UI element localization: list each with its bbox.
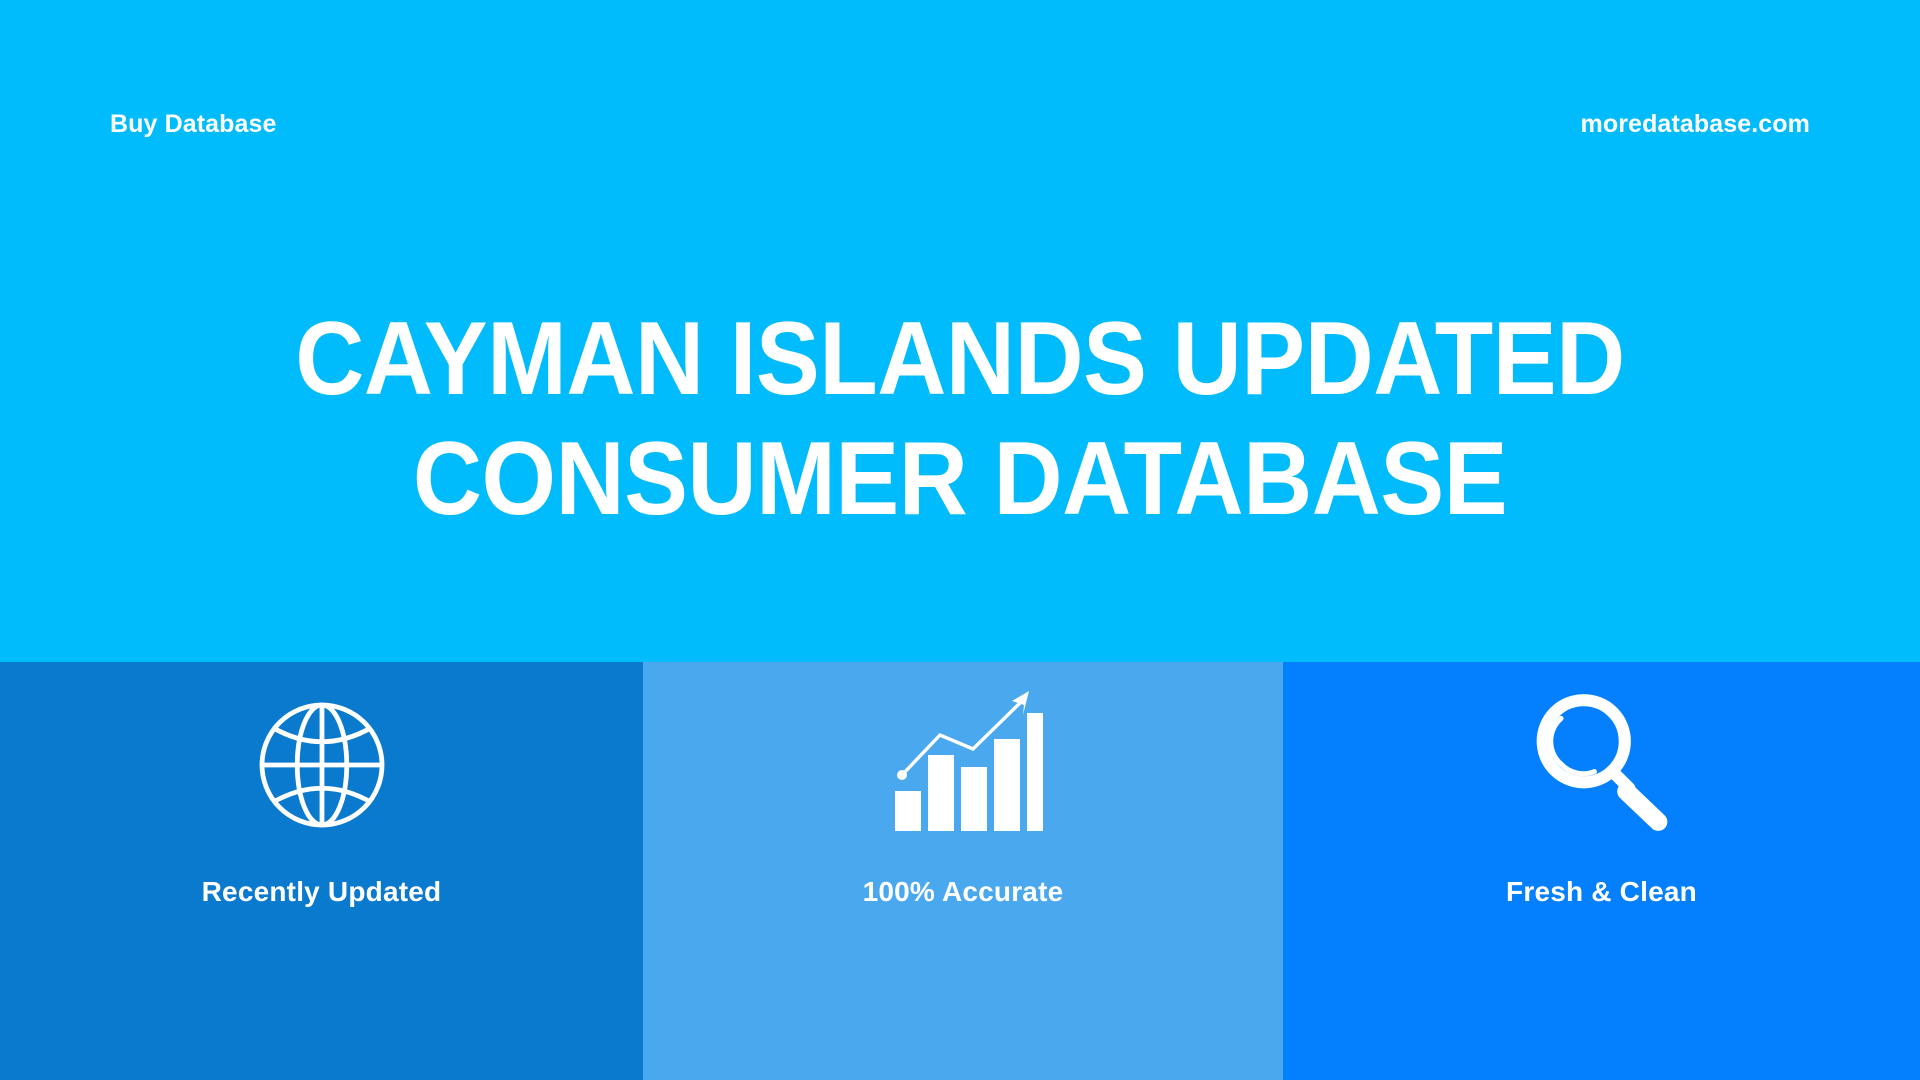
bar-chart-growth-icon [883,684,1043,834]
banner-root: Buy Database moredatabase.com CAYMAN ISL… [0,0,1920,1080]
website-url: moredatabase.com [1581,112,1810,137]
globe-icon [247,690,397,840]
feature-label-100-accurate: 100% Accurate [863,878,1064,906]
feature-label-fresh-clean: Fresh & Clean [1506,878,1697,906]
feature-strip: Recently Updated [0,662,1920,1080]
hero-topbar: Buy Database moredatabase.com [110,104,1810,144]
feature-fresh-clean: Fresh & Clean [1283,662,1920,1080]
hero-heading: CAYMAN ISLANDS UPDATED CONSUMER DATABASE [77,300,1843,539]
feature-recently-updated: Recently Updated [0,662,643,1080]
feature-label-recently-updated: Recently Updated [202,878,442,906]
brand-name: Buy Database [110,112,277,137]
hero-section: Buy Database moredatabase.com CAYMAN ISL… [0,0,1920,662]
feature-100-accurate: 100% Accurate [643,662,1283,1080]
hero-heading-line-2: CONSUMER DATABASE [77,420,1843,540]
page-title: CAYMAN ISLANDS UPDATED CONSUMER DATABASE [0,300,1920,539]
hero-heading-line-1: CAYMAN ISLANDS UPDATED [77,300,1843,420]
magnifier-icon [1526,686,1678,836]
